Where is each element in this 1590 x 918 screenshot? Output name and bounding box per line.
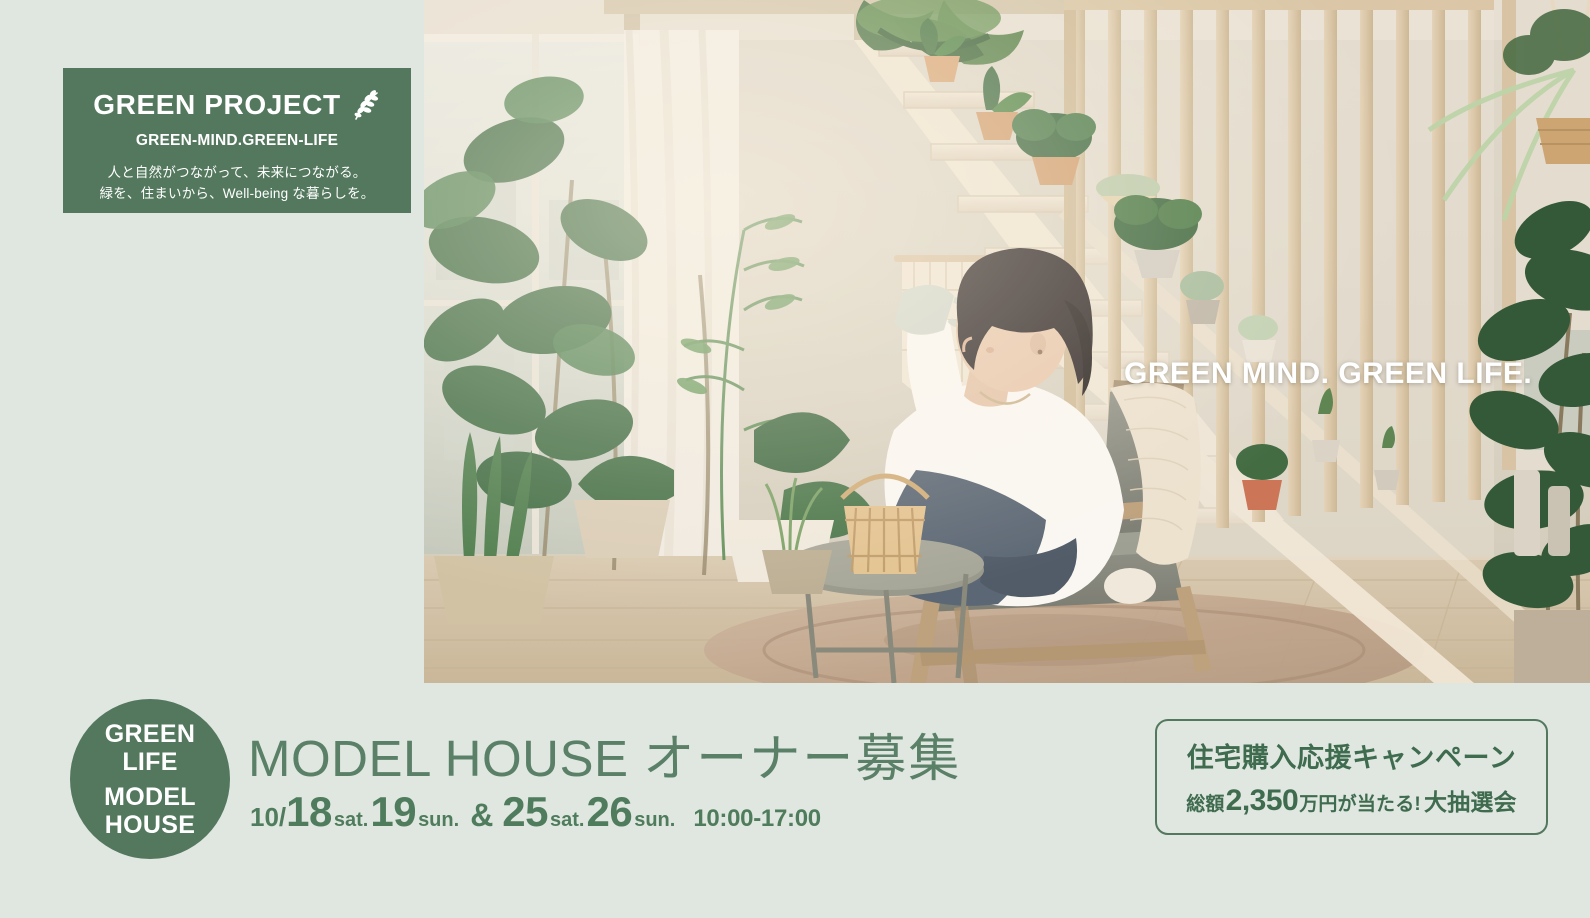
campaign-prefix: 総額 [1186, 789, 1224, 816]
green-life-model-house-logo: GREEN LIFE MODEL HOUSE [70, 699, 230, 859]
campaign-banner: GREEN MIND. GREEN LIFE. GREEN PROJECT GR… [0, 0, 1590, 918]
campaign-suffix: 大抽選会 [1424, 783, 1517, 817]
date-day-2: 19 [370, 788, 416, 836]
badge-subtitle: GREEN-MIND.GREEN-LIFE [63, 132, 411, 150]
logo-line-3: MODEL [104, 783, 196, 811]
date-day-4-suffix: sun. [634, 809, 675, 832]
campaign-mid: が当たる! [1338, 789, 1421, 816]
photo-overlay-tagline: GREEN MIND. GREEN LIFE. [1124, 357, 1532, 391]
badge-lead: 人と自然がつながって、未来につながる。 緑を、住まいから、Well-being … [63, 163, 411, 205]
event-time: 10:00-17:00 [693, 805, 820, 833]
date-day-1: 18 [286, 788, 332, 836]
hero-photo-illustration [424, 0, 1590, 683]
headline-jp: オーナー募集 [643, 730, 961, 787]
badge-title-row: GREEN PROJECT [63, 89, 411, 121]
headline-en: MODEL HOUSE [248, 730, 629, 787]
date-day-3-suffix: sat. [550, 809, 584, 832]
campaign-box: 住宅購入応援キャンペーン 総額 2,350 万円 が当たる! 大抽選会 [1155, 719, 1548, 835]
date-day-3: 25 [502, 788, 548, 836]
campaign-amount: 2,350 [1226, 784, 1299, 818]
date-day-4: 26 [586, 788, 632, 836]
campaign-unit: 万円 [1299, 789, 1337, 816]
badge-lead-line1: 人と自然がつながって、未来につながる。 [63, 163, 411, 184]
logo-line-2: LIFE [122, 748, 177, 776]
event-dateline: 10/ 18 sat. 19 sun. & 25 sat. 26 sun. 10… [250, 788, 821, 836]
campaign-title: 住宅購入応援キャンペーン [1187, 736, 1517, 775]
date-day-1-suffix: sat. [334, 809, 368, 832]
leaf-sprig-icon [351, 89, 381, 121]
date-day-2-suffix: sun. [418, 809, 459, 832]
date-month: 10/ [250, 802, 286, 833]
campaign-detail: 総額 2,350 万円 が当たる! 大抽選会 [1186, 783, 1517, 818]
date-ampersand: & [470, 797, 493, 834]
badge-title: GREEN PROJECT [93, 91, 340, 119]
badge-lead-line2: 緑を、住まいから、Well-being な暮らしを。 [63, 184, 411, 205]
logo-line-4: HOUSE [105, 811, 195, 839]
green-project-badge: GREEN PROJECT GREEN-MIND.GREEN-LIFE 人と自然… [63, 68, 411, 213]
hero-photo: GREEN MIND. GREEN LIFE. [424, 0, 1590, 683]
logo-line-1: GREEN [105, 720, 195, 748]
page-title: MODEL HOUSE オーナー募集 [248, 717, 961, 791]
